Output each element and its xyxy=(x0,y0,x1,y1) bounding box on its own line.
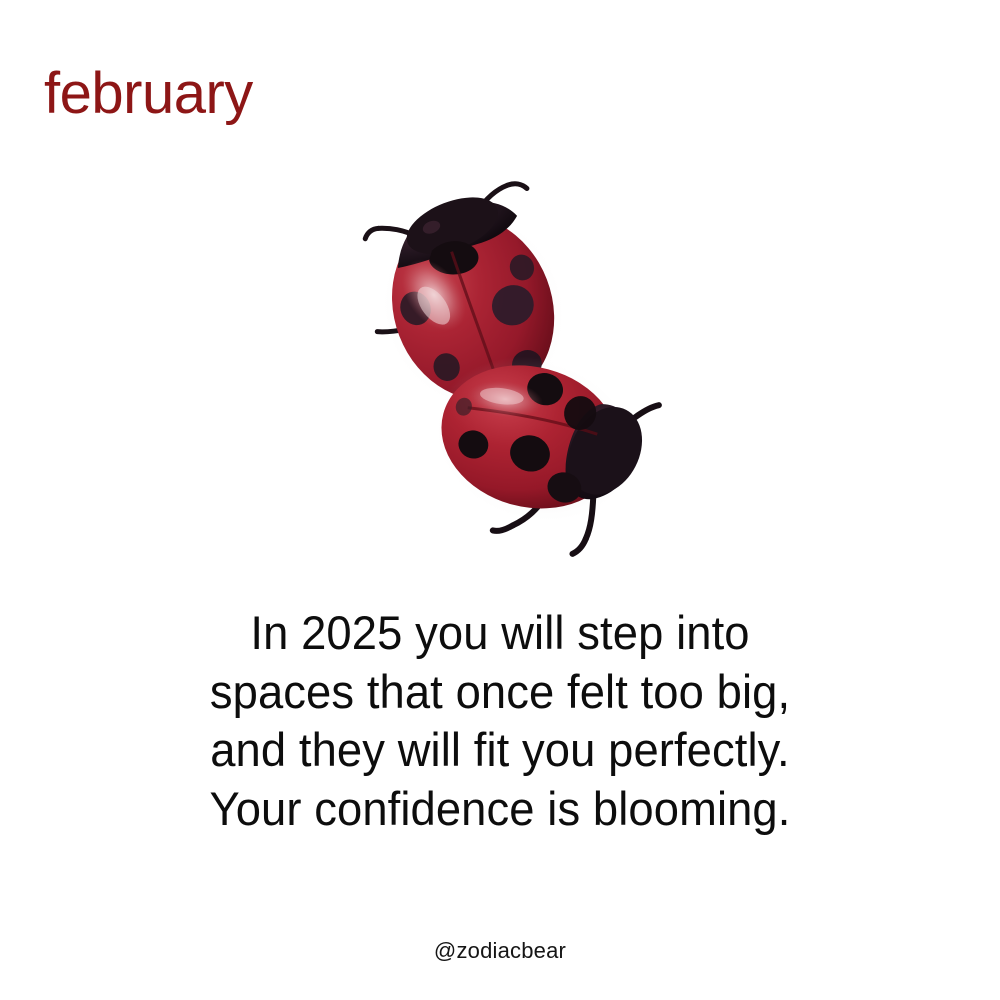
quote-line-1: In 2025 you will step into xyxy=(18,604,983,663)
ladybug-lower-right-icon xyxy=(340,175,670,545)
quote-line-3: and they will fit you perfectly. xyxy=(18,721,983,780)
quote-line-4: Your confidence is blooming. xyxy=(18,780,983,839)
month-heading: february xyxy=(44,63,253,125)
ladybug-illustration xyxy=(340,175,670,545)
account-handle: @zodiacbear xyxy=(0,938,1000,964)
quote-line-2: spaces that once felt too big, xyxy=(18,663,983,722)
quote-text: In 2025 you will step into spaces that o… xyxy=(0,604,1000,838)
post-canvas: february xyxy=(0,0,1000,1000)
